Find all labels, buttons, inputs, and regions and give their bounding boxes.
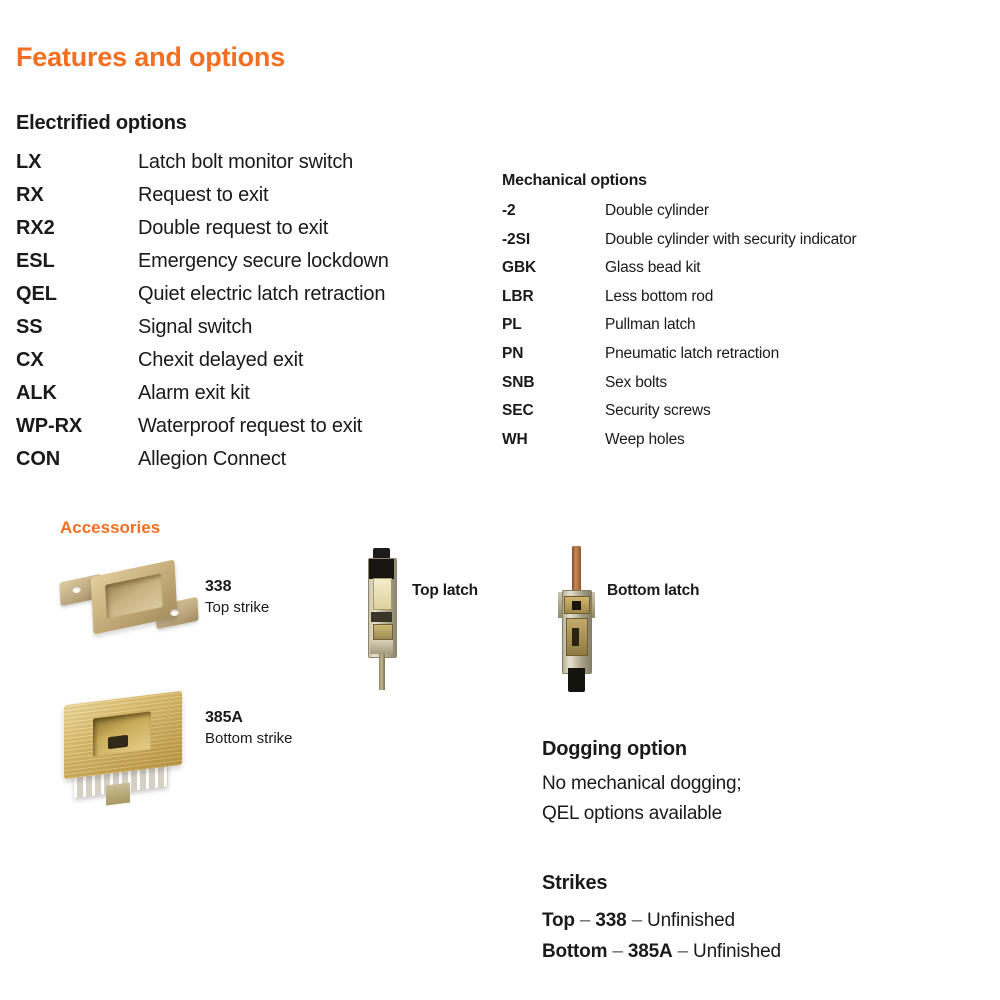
option-code: -2SI [502,231,605,249]
option-row: LBR Less bottom rod [502,288,857,317]
page-title: Features and options [16,42,285,73]
option-code: LBR [502,288,605,306]
option-description: Waterproof request to exit [138,415,362,438]
accessory-code: 338 [205,578,269,596]
option-description: Less bottom rod [605,288,713,306]
option-row: QEL Quiet electric latch retraction [16,283,389,316]
bottom-strike-label: 385A Bottom strike [205,709,293,747]
strikes-heading: Strikes [542,872,781,895]
option-description: Double request to exit [138,217,328,240]
option-row: SEC Security screws [502,402,857,431]
option-description: Pneumatic latch retraction [605,345,779,363]
option-description: Weep holes [605,431,685,449]
option-code: SS [16,316,138,339]
option-code: SEC [502,402,605,420]
option-code: CON [16,448,138,471]
option-code: CX [16,349,138,372]
accessory-name: Bottom strike [205,730,293,747]
option-code: SNB [502,374,605,392]
top-strike-label: 338 Top strike [205,578,269,616]
option-row: PN Pneumatic latch retraction [502,345,857,374]
option-description: Security screws [605,402,711,420]
strike-cavity-shadow [108,735,128,749]
electrified-options-heading: Electrified options [16,112,389,135]
dogging-line-2: QEL options available [542,799,741,829]
option-code: PN [502,345,605,363]
option-description: Double cylinder with security indicator [605,231,857,249]
dogging-option-heading: Dogging option [542,738,741,761]
option-code: ALK [16,382,138,405]
option-code: QEL [16,283,138,306]
option-description: Emergency secure lockdown [138,250,389,273]
option-code: RX2 [16,217,138,240]
option-row: RX Request to exit [16,184,389,217]
strike-housing-tab [106,783,130,806]
option-row: SNB Sex bolts [502,374,857,403]
option-code: RX [16,184,138,207]
option-code: LX [16,151,138,174]
strikes-section: Strikes Top – 338 – Unfinished Bottom – … [542,872,781,967]
option-code: WH [502,431,605,449]
option-code: PL [502,316,605,334]
option-code: GBK [502,259,605,277]
option-description: Double cylinder [605,202,709,220]
latch-aperture [572,601,581,610]
bottom-strike-photo [56,692,206,804]
latch-rod [379,654,385,690]
option-row: CX Chexit delayed exit [16,349,389,382]
mechanical-options-heading: Mechanical options [502,172,857,190]
option-description: Pullman latch [605,316,695,334]
strike-finish: Unfinished [693,941,781,962]
strike-row: Bottom – 385A – Unfinished [542,936,781,967]
option-description: Chexit delayed exit [138,349,303,372]
option-description: Glass bead kit [605,259,700,277]
accessory-name: Top strike [205,599,269,616]
electrified-options-section: Electrified options LX Latch bolt monito… [16,112,389,481]
option-row: CON Allegion Connect [16,448,389,481]
latch-mechanism-part [373,624,393,640]
option-description: Request to exit [138,184,268,207]
option-description: Latch bolt monitor switch [138,151,353,174]
strike-dash: – [612,941,622,962]
option-description: Allegion Connect [138,448,286,471]
option-code: -2 [502,202,605,220]
option-row: -2 Double cylinder [502,202,857,231]
option-row: SS Signal switch [16,316,389,349]
option-code: ESL [16,250,138,273]
option-description: Quiet electric latch retraction [138,283,385,306]
accessories-heading: Accessories [60,518,160,538]
strike-row: Top – 338 – Unfinished [542,905,781,936]
strike-dash: – [580,910,590,931]
dogging-option-section: Dogging option No mechanical dogging; QE… [542,738,741,829]
strike-position: Top [542,910,575,931]
option-row: -2SI Double cylinder with security indic… [502,231,857,260]
option-description: Sex bolts [605,374,667,392]
bottom-latch-label: Bottom latch [607,582,699,600]
strike-dash: – [678,941,688,962]
option-row: WP-RX Waterproof request to exit [16,415,389,448]
top-latch-photo [364,548,404,690]
option-row: LX Latch bolt monitor switch [16,151,389,184]
latch-black-band [369,559,394,579]
bottom-latch-photo [557,546,599,692]
top-latch-label: Top latch [412,582,478,600]
strike-model: 385A [628,941,673,962]
strike-finish: Unfinished [647,910,735,931]
option-description: Alarm exit kit [138,382,250,405]
option-description: Signal switch [138,316,252,339]
dogging-line-1: No mechanical dogging; [542,769,741,799]
strike-cavity [93,711,151,756]
latch-slot [572,628,579,646]
option-code: WP-RX [16,415,138,438]
option-row: ESL Emergency secure lockdown [16,250,389,283]
latch-mechanism-part [370,640,393,654]
mechanical-options-section: Mechanical options -2 Double cylinder -2… [502,172,857,459]
strike-position: Bottom [542,941,607,962]
option-row: ALK Alarm exit kit [16,382,389,415]
latch-bolt-block [373,578,392,610]
option-row: RX2 Double request to exit [16,217,389,250]
latch-mechanism-part [371,612,392,622]
strike-dash: – [632,910,642,931]
latch-end-cap [568,668,585,692]
option-row: GBK Glass bead kit [502,259,857,288]
top-strike-photo [52,556,202,642]
option-row: PL Pullman latch [502,316,857,345]
strike-model: 338 [595,910,626,931]
accessory-code: 385A [205,709,293,727]
option-row: WH Weep holes [502,431,857,460]
